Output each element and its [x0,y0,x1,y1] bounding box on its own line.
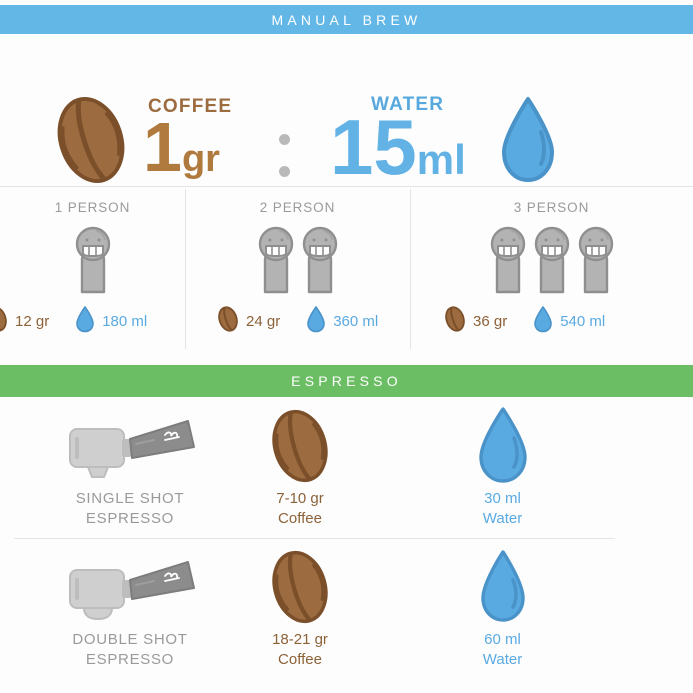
person-icon [532,224,572,303]
person-icon [73,224,113,303]
person-icon [300,224,340,303]
espresso-row-single-shot: SINGLE SHOT ESPRESSO [0,397,693,538]
water-drop-small-icon [75,305,95,337]
person-icon [488,224,528,303]
serving-coffee-value: 36 gr [473,313,507,330]
serving-coffee-stat: 24 gr [217,305,280,337]
coffee-bean-small-icon [217,305,239,337]
person-figures [185,224,410,303]
person-icon [256,224,296,303]
coffee-bean-small-icon [444,305,466,337]
serving-water-value: 540 ml [560,313,605,330]
portafilter-icon [30,397,230,489]
person-icon [576,224,616,303]
espresso-coffee-cell: 7-10 gr Coffee [225,397,375,529]
serving-water-value: 180 ml [102,313,147,330]
serving-stats: 12 gr 180 ml [0,305,185,337]
water-ratio-unit: ml [417,136,466,183]
serving-column-1-person: 1 PERSON [0,187,185,362]
water-drop-icon [425,538,580,630]
espresso-icon-cell: SINGLE SHOT ESPRESSO [30,397,230,529]
serving-coffee-value: 12 gr [15,313,49,330]
infographic-page: MANUAL BREW COFFEE 1gr WATER 15ml [0,0,693,693]
water-drop-small-icon [533,305,553,337]
person-figures [410,224,693,303]
espresso-row-double-shot: DOUBLE SHOT ESPRESSO [0,538,693,679]
espresso-coffee-amount: 7-10 gr Coffee [225,489,375,529]
serving-stats: 36 gr 540 ml [410,305,693,337]
servings-row: 1 PERSON [0,186,693,362]
serving-coffee-stat: 36 gr [444,305,507,337]
espresso-water-cell: 60 ml Water [425,538,580,670]
espresso-rows: SINGLE SHOT ESPRESSO [0,397,693,679]
water-ratio-number: 15 [330,103,417,191]
serving-stats: 24 gr 360 ml [185,305,442,337]
coffee-ratio-number: 1 [143,108,182,186]
serving-water-stat: 540 ml [533,305,605,337]
coffee-bean-small-icon [0,305,8,337]
water-drop-icon [425,397,580,489]
espresso-coffee-amount: 18-21 gr Coffee [225,630,375,670]
espresso-banner-title: ESPRESSO [291,373,402,389]
serving-water-value: 360 ml [333,313,378,330]
serving-column-2-person: 2 PERSON [185,187,410,362]
espresso-icon-cell: DOUBLE SHOT ESPRESSO [30,538,230,670]
coffee-bean-icon [225,538,375,630]
ratio-dot-bottom [279,166,290,177]
serving-title: 2 PERSON [185,200,410,215]
coffee-ratio-unit: gr [182,138,220,180]
espresso-shot-label: SINGLE SHOT ESPRESSO [30,489,230,529]
espresso-water-cell: 30 ml Water [425,397,580,529]
serving-water-stat: 360 ml [306,305,378,337]
coffee-ratio-amount: 1gr [143,112,220,182]
serving-title: 3 PERSON [410,200,693,215]
coffee-bean-icon [225,397,375,489]
ratio-dot-top [279,134,290,145]
serving-water-stat: 180 ml [75,305,147,337]
water-drop-small-icon [306,305,326,337]
espresso-banner: ESPRESSO [0,365,693,397]
serving-column-3-person: 3 PERSON [410,187,693,362]
brew-ratio-block: COFFEE 1gr WATER 15ml [0,34,693,186]
serving-title: 1 PERSON [0,200,185,215]
serving-coffee-stat: 12 gr [0,305,49,337]
person-figures [0,224,185,303]
espresso-water-amount: 60 ml Water [425,630,580,670]
water-drop-icon [496,94,560,191]
espresso-coffee-cell: 18-21 gr Coffee [225,538,375,670]
water-ratio-amount: 15ml [330,108,466,186]
serving-coffee-value: 24 gr [246,313,280,330]
manual-brew-banner: MANUAL BREW [0,5,693,34]
espresso-shot-label: DOUBLE SHOT ESPRESSO [30,630,230,670]
portafilter-icon [30,538,230,630]
coffee-bean-icon [52,92,130,193]
espresso-water-amount: 30 ml Water [425,489,580,529]
manual-brew-banner-title: MANUAL BREW [272,12,422,28]
